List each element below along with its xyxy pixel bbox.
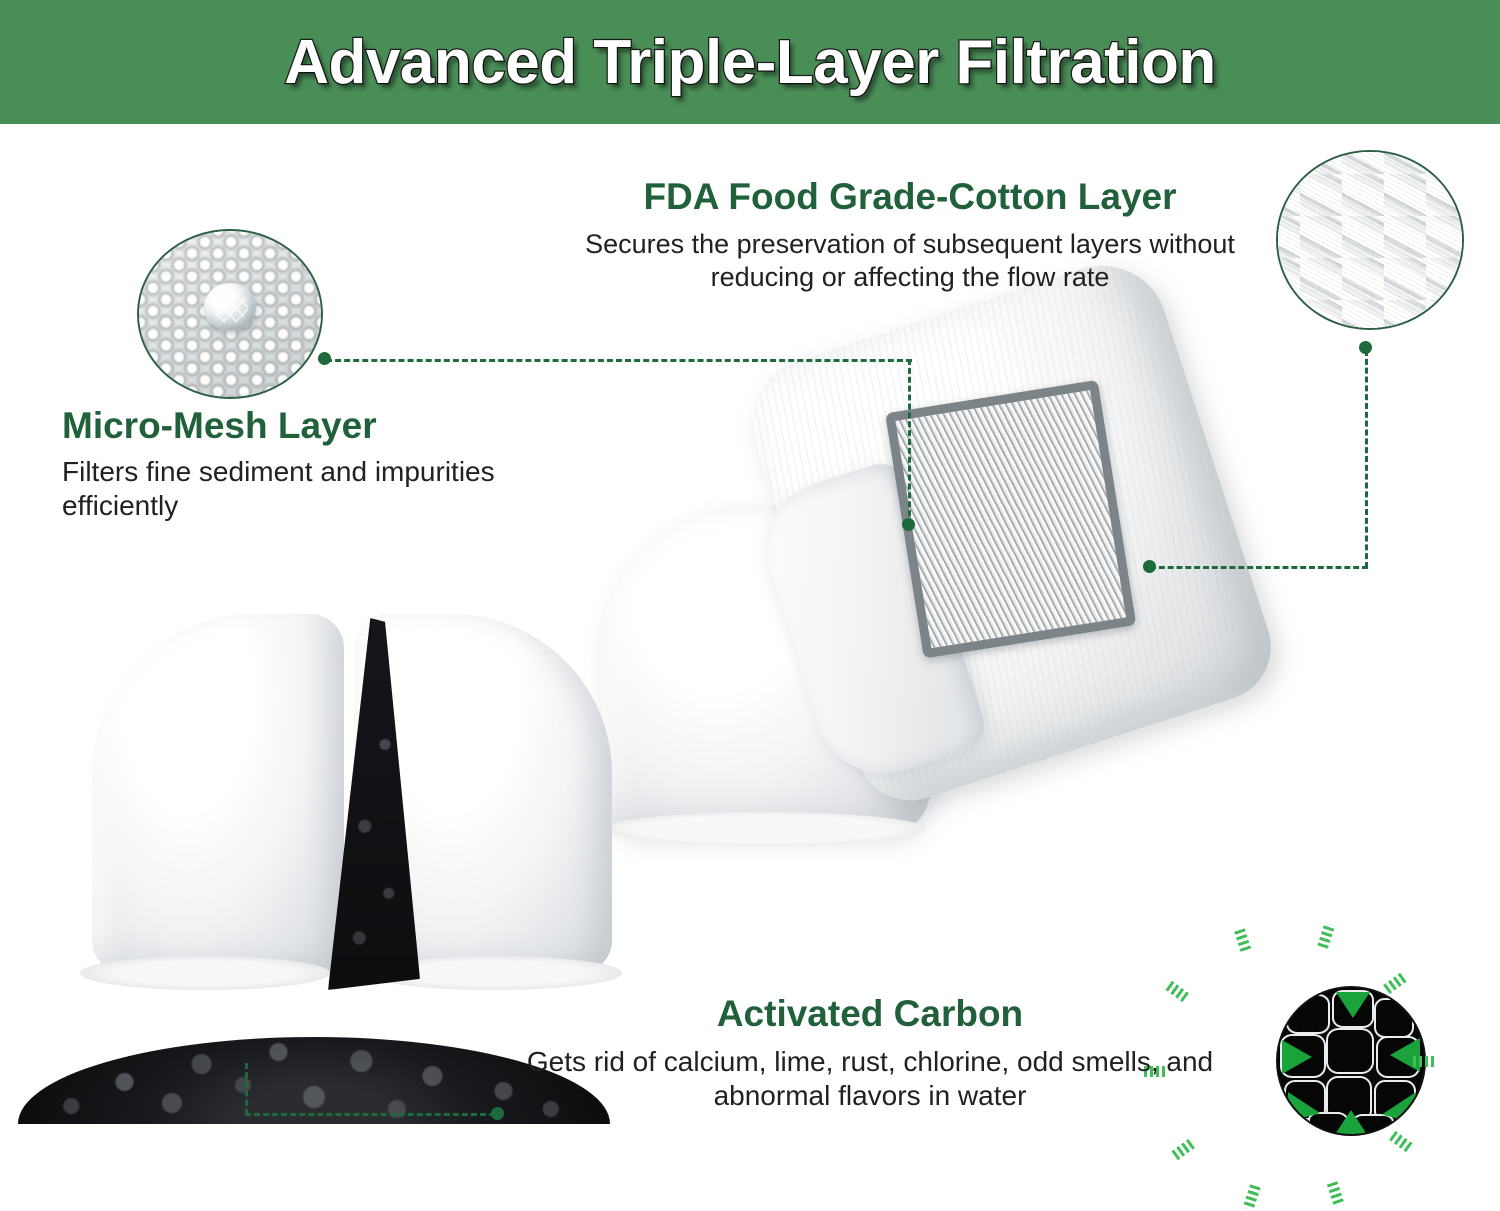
feature-title-cotton: FDA Food Grade-Cotton Layer [555, 178, 1265, 217]
woven-fabric-texture [1278, 152, 1462, 328]
feature-title-micro-mesh: Micro-Mesh Layer [62, 407, 532, 446]
connector-line-carbon-v [245, 1063, 248, 1115]
carbon-radiating-tick [1243, 1184, 1261, 1210]
page-title: Advanced Triple-Layer Filtration [284, 27, 1215, 98]
micro-mesh-swatch [137, 229, 323, 399]
feature-block-micro-mesh: Micro-Mesh Layer Filters fine sediment a… [62, 407, 532, 523]
connector-line-cotton-v [1365, 350, 1368, 568]
connector-dot-cotton-end [1143, 560, 1156, 573]
header-banner: Advanced Triple-Layer Filtration [0, 0, 1500, 124]
carbon-pore-structure [1276, 986, 1426, 1136]
feature-description-carbon: Gets rid of calcium, lime, rust, chlorin… [505, 1045, 1235, 1113]
cotton-weave-swatch [1276, 150, 1464, 330]
filter-half-left [92, 614, 344, 974]
connector-line-cotton-h [1150, 566, 1368, 569]
feature-description-micro-mesh: Filters fine sediment and impurities eff… [62, 455, 532, 523]
feature-block-carbon: Activated Carbon Gets rid of calcium, li… [505, 995, 1235, 1113]
activated-carbon-swatch [1254, 966, 1448, 1156]
connector-line-micro-mesh-h [326, 359, 912, 362]
carbon-radiating-tick [1327, 1181, 1345, 1207]
split-filter-cartridge [92, 614, 612, 974]
connector-dot-micro-mesh-end [902, 518, 915, 531]
connector-line-carbon-h [245, 1113, 495, 1116]
feature-block-cotton: FDA Food Grade-Cotton Layer Secures the … [555, 178, 1265, 294]
feature-description-cotton: Secures the preservation of subsequent l… [555, 228, 1265, 294]
mesh-window-panel [885, 380, 1136, 659]
water-droplet-icon [204, 283, 256, 331]
connector-line-micro-mesh-v [908, 359, 911, 525]
carbon-radiating-tick [1413, 1056, 1437, 1067]
connector-dot-carbon-end [491, 1107, 504, 1120]
carbon-radiating-tick [1383, 971, 1409, 994]
feature-title-carbon: Activated Carbon [505, 995, 1235, 1034]
